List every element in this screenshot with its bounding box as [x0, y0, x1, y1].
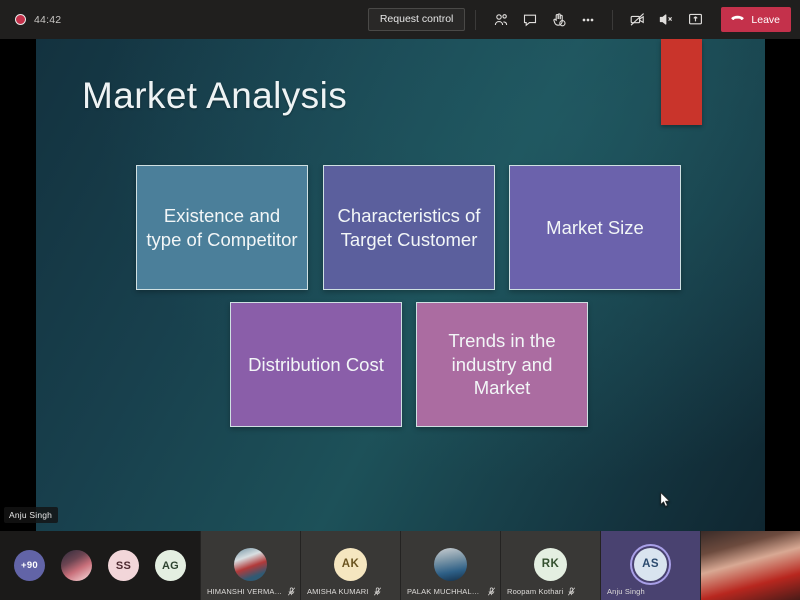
avatar: AK	[334, 548, 367, 581]
participant-name: Roopam Kothari	[507, 587, 563, 596]
people-button[interactable]	[486, 6, 515, 33]
slide-title: Market Analysis	[82, 75, 347, 117]
participant-tile[interactable]: PALAK MUCHHAL31634	[400, 531, 500, 600]
avatar-initials: AS	[642, 558, 659, 570]
camera-off-icon	[629, 11, 646, 28]
slide-box-label: Trends in the industry and Market	[425, 329, 579, 400]
mic-muted-icon	[567, 587, 576, 596]
avatar	[434, 548, 467, 581]
participant-name-row: Anju Singh	[607, 587, 645, 596]
participant-name-row: HIMANSHI VERMA314...	[207, 587, 296, 596]
slide-box-market-size: Market Size	[509, 165, 681, 290]
slide-box-label: Market Size	[546, 216, 644, 240]
slide-accent-rectangle	[661, 39, 702, 125]
slide-box-label: Characteristics of Target Customer	[332, 204, 486, 251]
avatar-initials: RK	[542, 558, 559, 570]
participant-tile[interactable]: RK Roopam Kothari	[500, 531, 600, 600]
slide-box-characteristics-customer: Characteristics of Target Customer	[323, 165, 495, 290]
participant-name: AMISHA KUMARI	[307, 587, 369, 596]
chat-button[interactable]	[515, 6, 544, 33]
more-options-button[interactable]	[573, 6, 602, 33]
roster-avatar-initials: SS	[116, 560, 131, 572]
participant-tile[interactable]: AK AMISHA KUMARI	[300, 531, 400, 600]
participant-name: HIMANSHI VERMA314...	[207, 587, 283, 596]
participant-tile[interactable]: HIMANSHI VERMA314...	[200, 531, 300, 600]
record-dot-icon	[15, 14, 26, 25]
leave-button[interactable]: Leave	[721, 7, 791, 32]
raise-hand-button[interactable]	[544, 6, 573, 33]
avatar-initials: AK	[342, 558, 359, 570]
toolbar-divider-2	[612, 10, 613, 30]
mic-toggle-button[interactable]	[652, 6, 681, 33]
overflow-count-badge[interactable]: +90	[14, 550, 45, 581]
people-icon	[493, 12, 509, 28]
participant-name-row: Roopam Kothari	[507, 587, 576, 596]
mic-muted-icon	[487, 587, 496, 596]
recording-timer: 44:42	[34, 14, 61, 26]
mic-muted-icon	[287, 587, 296, 596]
avatar: RK	[534, 548, 567, 581]
slide-box-distribution-cost: Distribution Cost	[230, 302, 402, 427]
teams-meeting-window: 44:42 Request control	[0, 0, 800, 600]
participant-video-feed	[701, 531, 800, 600]
roster-avatar-ag[interactable]: AG	[155, 550, 186, 581]
participant-tile-video[interactable]	[700, 531, 800, 600]
participant-name-row: AMISHA KUMARI	[307, 587, 382, 596]
roster-overflow-group: +90 SS AG	[0, 531, 200, 600]
participant-name-row: PALAK MUCHHAL31634	[407, 587, 496, 596]
presenter-name-tag: Anju Singh	[4, 507, 58, 523]
participant-tile-active-speaker[interactable]: AS Anju Singh	[600, 531, 700, 600]
meeting-controls: Request control	[368, 0, 800, 39]
avatar	[234, 548, 267, 581]
slide-box-trends-industry: Trends in the industry and Market	[416, 302, 588, 427]
meeting-top-bar: 44:42 Request control	[0, 0, 800, 39]
slide-box-existence-competitor: Existence and type of Competitor	[136, 165, 308, 290]
share-screen-icon	[687, 11, 704, 28]
participant-name: PALAK MUCHHAL31634	[407, 587, 483, 596]
share-screen-button[interactable]	[681, 6, 710, 33]
participant-filmstrip: +90 SS AG HIMANSHI VERMA314... AK	[0, 531, 800, 600]
slide-box-label: Distribution Cost	[248, 353, 384, 377]
overflow-count-label: +90	[21, 560, 38, 571]
toolbar-divider	[475, 10, 476, 30]
hang-up-icon	[730, 11, 745, 29]
leave-button-label: Leave	[751, 14, 780, 26]
chat-icon	[522, 12, 538, 28]
shared-content-stage[interactable]: Market Analysis Existence and type of Co…	[0, 39, 800, 531]
participant-name: Anju Singh	[607, 587, 645, 596]
presentation-slide: Market Analysis Existence and type of Co…	[36, 39, 765, 531]
roster-avatar-photo[interactable]	[61, 550, 92, 581]
slide-box-label: Existence and type of Competitor	[145, 204, 299, 251]
recording-indicator: 44:42	[15, 14, 61, 26]
more-options-icon	[580, 12, 596, 28]
avatar: AS	[634, 548, 667, 581]
raise-hand-icon	[551, 12, 567, 28]
request-control-button[interactable]: Request control	[368, 8, 466, 31]
speaker-mute-icon	[658, 11, 675, 28]
mic-muted-icon	[373, 587, 382, 596]
roster-avatar-initials: AG	[162, 560, 179, 572]
roster-avatar-ss[interactable]: SS	[108, 550, 139, 581]
camera-toggle-button[interactable]	[623, 6, 652, 33]
